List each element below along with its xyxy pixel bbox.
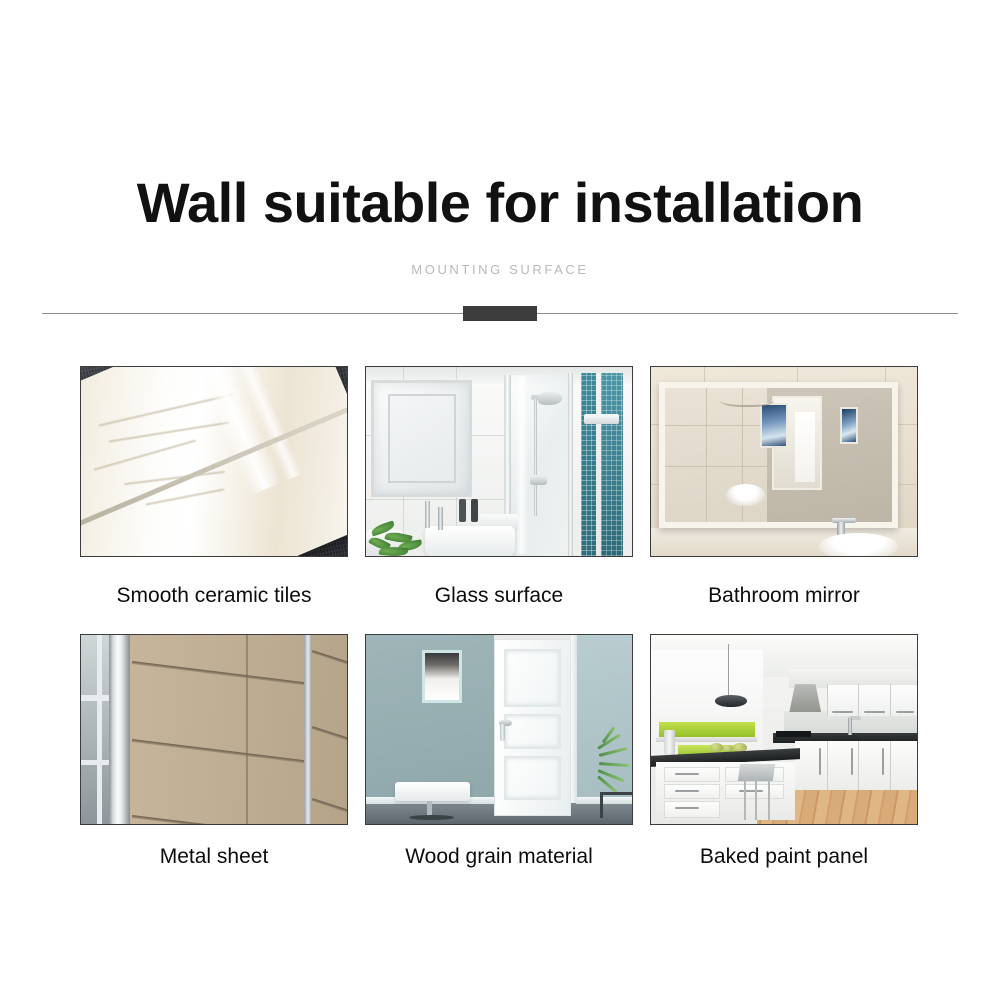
surface-gallery-grid-row2: Metal sheet	[80, 634, 918, 889]
image-card-glass-surface[interactable]	[365, 366, 633, 557]
image-caption: Bathroom mirror	[650, 557, 918, 634]
surface-gallery-grid: Smooth ceramic tiles	[80, 366, 918, 634]
image-caption: Wood grain material	[365, 825, 633, 889]
gallery-item[interactable]: Glass surface	[365, 366, 633, 634]
image-caption: Glass surface	[365, 557, 633, 634]
gallery-item[interactable]: Metal sheet	[80, 634, 348, 889]
gallery-item[interactable]: Baked paint panel	[650, 634, 918, 889]
image-card-metal-sheet[interactable]	[80, 634, 348, 825]
image-caption: Baked paint panel	[650, 825, 918, 889]
beige-metal-wall-panels-image	[81, 635, 347, 824]
page-title: Wall suitable for installation	[0, 172, 1000, 234]
white-panelled-interior-door-image	[366, 635, 632, 824]
gallery-item[interactable]: Wood grain material	[365, 634, 633, 889]
image-card-wood-grain-material[interactable]	[365, 634, 633, 825]
divider-center-block	[463, 306, 537, 321]
image-card-ceramic-tiles[interactable]	[80, 366, 348, 557]
large-framed-bathroom-wall-mirror-image	[651, 367, 917, 556]
bathroom-glass-shower-enclosure-image	[366, 367, 632, 556]
image-card-baked-paint-panel[interactable]	[650, 634, 918, 825]
product-feature-page: Wall suitable for installation MOUNTING …	[0, 0, 1000, 1000]
gallery-item[interactable]: Smooth ceramic tiles	[80, 366, 348, 634]
modern-white-gloss-kitchen-image	[651, 635, 917, 824]
image-caption: Metal sheet	[80, 825, 348, 889]
section-divider	[42, 309, 958, 325]
image-card-bathroom-mirror[interactable]	[650, 366, 918, 557]
image-caption: Smooth ceramic tiles	[80, 557, 348, 634]
page-subtitle: MOUNTING SURFACE	[0, 262, 1000, 277]
ceramic-tile-corner-on-carpet-image	[81, 367, 347, 556]
gallery-item[interactable]: Bathroom mirror	[650, 366, 918, 634]
